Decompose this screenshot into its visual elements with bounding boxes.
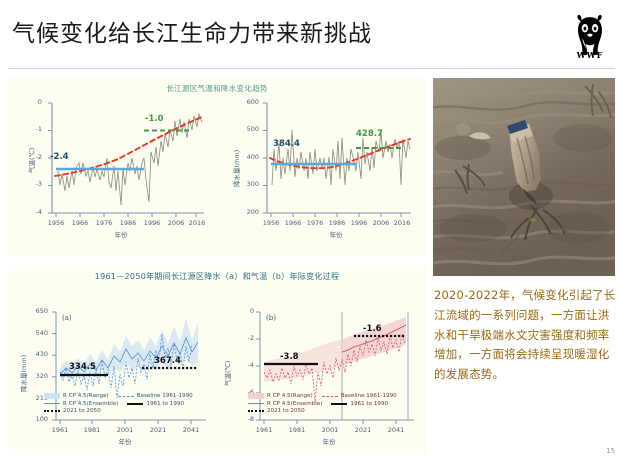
chart-temperature-projection: 0 -2 -4 -6 -8 1961 1981 2001 2021 2041 年…	[218, 300, 423, 458]
xtick-1961: 1961	[252, 426, 276, 434]
legend-label-1961-1990: 1961 to 1990	[146, 401, 184, 407]
ytick-m1: -1	[14, 125, 42, 133]
xtick-2001: 2001	[318, 426, 342, 434]
legend-swatch-ensemble	[248, 403, 264, 404]
legend-item-2021-2050: 2021 to 2050	[248, 408, 305, 414]
xaxis-label: 年份	[36, 229, 206, 239]
xtick-2016: 2016	[185, 219, 209, 227]
legend-item-baseline: Baseline 1961-1990	[118, 393, 193, 399]
xtick-1976: 1976	[92, 219, 116, 227]
xtick-1986: 1986	[325, 219, 349, 227]
annotation-baseline-mean: -3.8	[280, 352, 299, 362]
xtick-1966: 1966	[281, 219, 305, 227]
yaxis-label: 气温(℃)	[222, 361, 232, 386]
chart-precipitation-projection: 650 540 430 320 210 100 1961 1981 2001 2…	[14, 300, 214, 458]
bottom-panel-title: 1961—2050年期间长江源区降水（a）和气温（b）年际变化过程	[8, 271, 426, 282]
photo-plastic-bottle-in-sand	[433, 78, 615, 276]
legend-label-ensemble: R CP 4.5(Ensemble)	[267, 401, 322, 407]
legend-swatch-1961-1990	[331, 403, 347, 405]
top-panel-title: 长江源区气温和降水变化趋势	[8, 83, 426, 94]
xtick-1996: 1996	[140, 219, 164, 227]
legend-item-range: R CP 4.5(Range)	[248, 393, 313, 399]
legend-swatch-baseline	[118, 396, 134, 397]
legend-item-ensemble: R CP 4.5(Ensemble)	[44, 401, 118, 407]
legend-swatch-2021-2050	[248, 410, 264, 412]
ytick-600: 600	[223, 98, 259, 106]
legend-item-ensemble: R CP 4.5(Ensemble)	[248, 401, 322, 407]
ytick-m2: -2	[222, 334, 254, 342]
xtick-2041: 2041	[179, 426, 203, 434]
legend-label-2021-2050: 2021 to 2050	[63, 408, 101, 414]
xtick-2021: 2021	[351, 426, 375, 434]
xtick-2021: 2021	[146, 426, 170, 434]
xtick-1981: 1981	[285, 426, 309, 434]
annotation-recent-mean: 428.7	[356, 129, 383, 139]
chart-temperature-trend: 0 -1 -2 -3 -4 1956 1966 1976 1986 1996 2…	[18, 95, 213, 250]
xtick-2016: 2016	[390, 219, 414, 227]
annotation-baseline-mean: 334.5	[69, 362, 96, 372]
legend-swatch-ensemble	[44, 403, 60, 404]
legend-item-1961-1990: 1961 to 1990	[331, 401, 388, 407]
legend-temp-projection: R CP 4.5(Range) Baseline 1961-1990 R CP …	[248, 393, 428, 416]
ytick-0: 0	[14, 98, 42, 106]
panel-key-b: (b)	[266, 314, 276, 322]
ytick-m8: -8	[222, 415, 254, 423]
annotation-future-mean: 367.4	[154, 356, 181, 366]
xtick-1966: 1966	[68, 219, 92, 227]
xtick-1996: 1996	[347, 219, 371, 227]
ytick-m4: -4	[14, 208, 42, 216]
xtick-2041: 2041	[384, 426, 408, 434]
body-paragraph: 2020-2022年，气候变化引起了长江流域的一系列问题，一方面让洪水和干旱极端…	[434, 286, 618, 385]
annotation-baseline-mean: -2.4	[50, 152, 69, 162]
slide-header: 气候变化给长江生命力带来新挑战 WWF	[0, 0, 623, 70]
xtick-1986: 1986	[116, 219, 140, 227]
legend-swatch-1961-1990	[127, 403, 143, 405]
legend-label-2021-2050: 2021 to 2050	[267, 408, 305, 414]
annotation-recent-mean: -1.0	[145, 114, 164, 124]
legend-swatch-range	[248, 393, 264, 399]
legend-item-1961-1990: 1961 to 1990	[127, 401, 184, 407]
ytick-210: 210	[12, 394, 48, 402]
ytick-400: 400	[223, 153, 259, 161]
legend-item-2021-2050: 2021 to 2050	[44, 408, 101, 414]
yaxis-label: 降水量(mm)	[18, 355, 28, 392]
legend-swatch-range	[44, 393, 60, 399]
xtick-1956: 1956	[44, 219, 68, 227]
chart-precipitation-trend: 600 500 400 300 200 1956 1966 1976 1986 …	[225, 95, 420, 250]
ytick-200: 200	[223, 208, 259, 216]
annotation-baseline-mean: 384.4	[273, 139, 300, 149]
legend-item-baseline: Baseline 1961-1990	[322, 393, 397, 399]
annotation-future-mean: -1.6	[363, 324, 382, 334]
xtick-2001: 2001	[113, 426, 137, 434]
ytick-m3: -3	[14, 180, 42, 188]
legend-swatch-baseline	[322, 396, 338, 397]
slide: 气候变化给长江生命力带来新挑战 WWF 长江源区气温和降水变化趋势	[0, 0, 623, 461]
ytick-500: 500	[223, 125, 259, 133]
xtick-1981: 1981	[80, 426, 104, 434]
ytick-650: 650	[12, 307, 48, 315]
legend-item-range: R CP 4.5(Range)	[44, 393, 109, 399]
legend-label-range: R CP 4.5(Range)	[63, 393, 109, 399]
panel-key-a: (a)	[62, 314, 72, 322]
legend-swatch-2021-2050	[44, 410, 60, 412]
yaxis-label: 降水量(mm)	[231, 150, 241, 187]
yaxis-label: 气温(℃)	[26, 148, 36, 173]
legend-label-baseline: Baseline 1961-1990	[341, 393, 397, 399]
header-divider	[8, 68, 615, 69]
xaxis-label: 年份	[40, 436, 210, 446]
xtick-1976: 1976	[303, 219, 327, 227]
ytick-540: 540	[12, 329, 48, 337]
legend-label-ensemble: R CP 4.5(Ensemble)	[63, 401, 118, 407]
legend-label-range: R CP 4.5(Range)	[267, 393, 313, 399]
legend-label-1961-1990: 1961 to 1990	[350, 401, 388, 407]
xaxis-label: 年份	[251, 229, 421, 239]
ytick-100: 100	[12, 415, 48, 423]
ytick-300: 300	[223, 180, 259, 188]
legend-precip-projection: R CP 4.5(Range) Baseline 1961-1990 R CP …	[44, 393, 219, 416]
wwf-wordmark: WWF	[567, 50, 613, 60]
page-number: 15	[606, 447, 615, 455]
ytick-0: 0	[222, 307, 254, 315]
legend-label-baseline: Baseline 1961-1990	[137, 393, 193, 399]
page-title: 气候变化给长江生命力带来新挑战	[12, 14, 372, 48]
xaxis-label: 年份	[244, 436, 414, 446]
xtick-1961: 1961	[48, 426, 72, 434]
xtick-1956: 1956	[259, 219, 283, 227]
